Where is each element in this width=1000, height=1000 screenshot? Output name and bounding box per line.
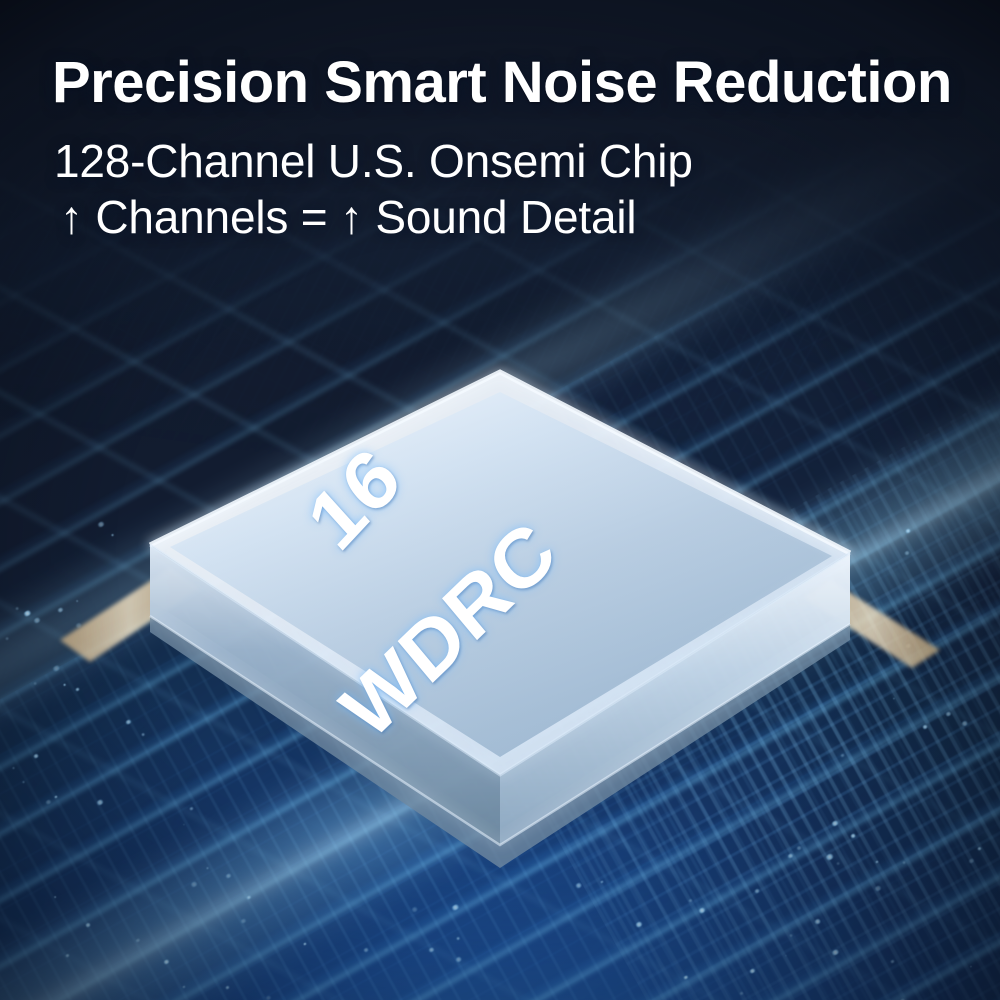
subtitle-line-2: ↑ Channels = ↑ Sound Detail (60, 192, 960, 243)
subtitle-line-1: 128-Channel U.S. Onsemi Chip (54, 136, 954, 187)
up-arrow-icon-2: ↑ (340, 191, 363, 243)
product-feature-banner: 16 WDRC Precision Smart Noise Reduction … (0, 0, 1000, 1000)
subtitle-line-2-text-a: Channels = (83, 191, 340, 243)
up-arrow-icon: ↑ (60, 191, 83, 243)
page-title: Precision Smart Noise Reduction (52, 52, 952, 113)
subtitle-line-2-text-b: Sound Detail (363, 191, 637, 243)
